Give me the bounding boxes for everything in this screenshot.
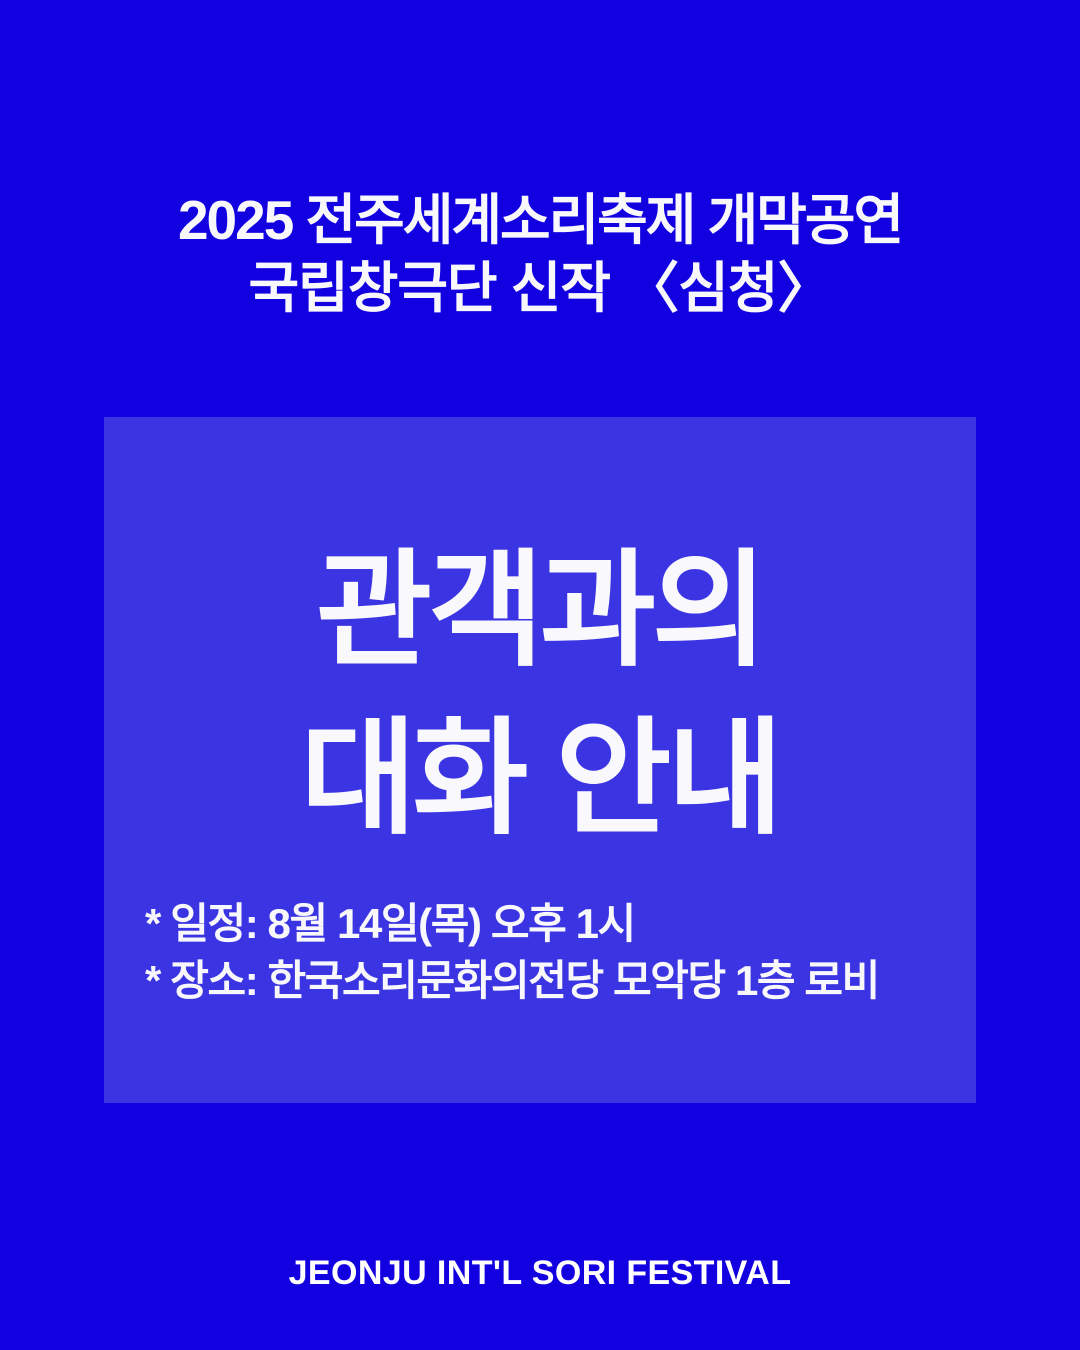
detail-schedule: * 일정: 8월 14일(목) 오후 1시 <box>145 895 945 952</box>
title-line-2: 국립창극단 신작 〈심청〉 <box>0 254 1080 322</box>
detail-venue: * 장소: 한국소리문화의전당 모악당 1층 로비 <box>145 952 945 1009</box>
headline-line-2: 대화 안내 <box>104 695 976 863</box>
poster-footer: JEONJU INT'L SORI FESTIVAL <box>0 1252 1080 1294</box>
event-details: * 일정: 8월 14일(목) 오후 1시 * 장소: 한국소리문화의전당 모악… <box>145 895 945 1009</box>
festival-wordmark: JEONJU INT'L SORI FESTIVAL <box>289 1252 792 1294</box>
headline-line-1: 관객과의 <box>104 527 976 695</box>
highlight-panel: 관객과의 대화 안내 * 일정: 8월 14일(목) 오후 1시 * 장소: 한… <box>104 417 976 1103</box>
poster-canvas: 2025 전주세계소리축제 개막공연 국립창극단 신작 〈심청〉 관객과의 대화… <box>0 0 1080 1350</box>
poster-title: 2025 전주세계소리축제 개막공연 국립창극단 신작 〈심청〉 <box>0 186 1080 322</box>
headline-block: 관객과의 대화 안내 <box>104 527 976 863</box>
title-line-1: 2025 전주세계소리축제 개막공연 <box>0 186 1080 254</box>
